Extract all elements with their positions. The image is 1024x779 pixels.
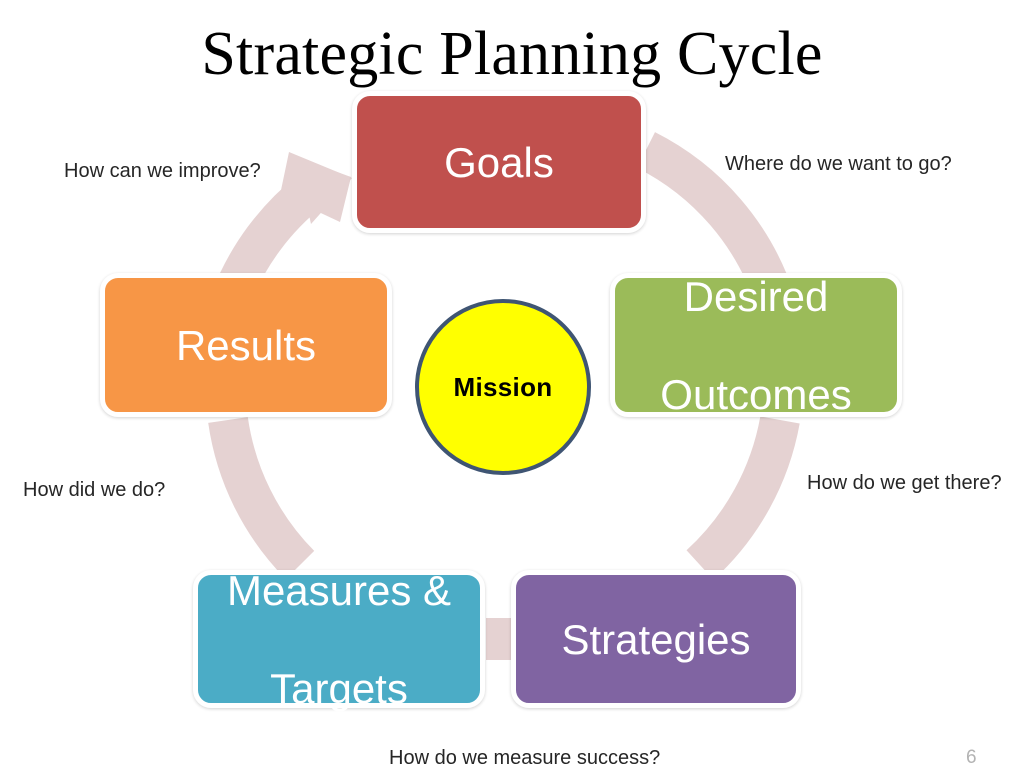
ring-arc-measures-to-results [228, 420, 300, 565]
slide-canvas: Strategic Planning Cycle Goals Desired O… [0, 0, 1024, 779]
cycle-node-measures-targets-line2: Targets [219, 664, 459, 713]
cycle-node-desired-outcomes-line2: Outcomes [652, 370, 859, 419]
cycle-node-goals-label: Goals [436, 138, 562, 187]
cycle-node-measures-targets[interactable]: Measures & Targets [193, 570, 485, 708]
slide-page-number: 6 [966, 747, 977, 769]
cycle-node-desired-outcomes-line1: Desired [652, 272, 859, 321]
cycle-center-mission-label: Mission [454, 372, 553, 403]
cycle-node-measures-targets-line1: Measures & [219, 566, 459, 615]
cycle-node-strategies-label: Strategies [553, 615, 758, 664]
cycle-node-measures-targets-label: Measures & Targets [211, 566, 467, 713]
cycle-node-goals[interactable]: Goals [352, 91, 646, 233]
caption-where-do-we-want-to-go: Where do we want to go? [725, 152, 952, 176]
cycle-node-results-label: Results [168, 321, 324, 370]
ring-connector-bottom [486, 618, 514, 660]
cycle-node-results[interactable]: Results [100, 273, 392, 417]
caption-how-did-we-do: How did we do? [23, 478, 165, 502]
ring-arc-outcomes-to-strategies [700, 420, 780, 565]
cycle-center-mission[interactable]: Mission [415, 299, 591, 475]
caption-how-do-we-get-there: How do we get there? [807, 471, 1002, 495]
caption-how-can-we-improve: How can we improve? [64, 159, 261, 183]
cycle-node-desired-outcomes-label: Desired Outcomes [644, 272, 867, 419]
cycle-node-desired-outcomes[interactable]: Desired Outcomes [610, 273, 902, 417]
cycle-node-strategies[interactable]: Strategies [511, 570, 801, 708]
caption-how-do-we-measure-success: How do we measure success? [389, 746, 660, 770]
